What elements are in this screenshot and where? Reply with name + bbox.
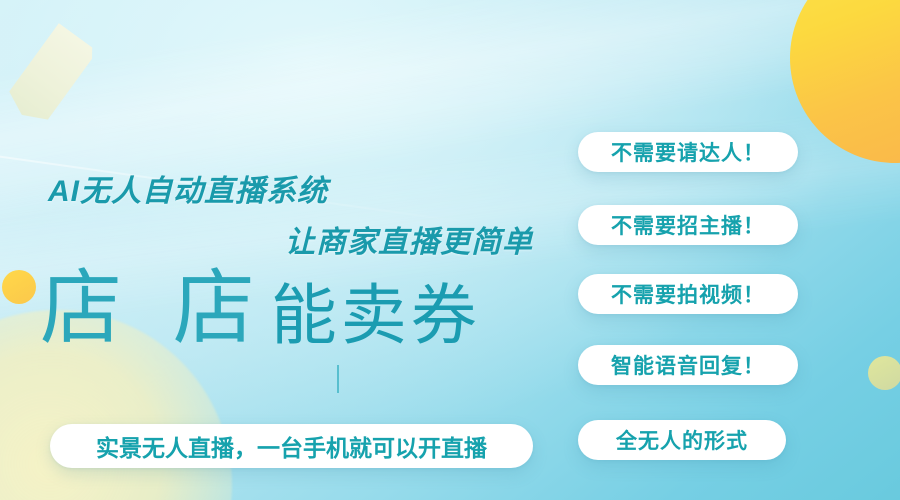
promo-banner: AI无人自动直播系统 让商家直播更简单 店 店 能卖券 不需要请达人！ 不需要招… [0,0,900,500]
ribbon-shape-icon [2,23,97,129]
headline-tick-mark-icon [337,365,339,393]
feature-pill-no-influencer[interactable]: 不需要请达人！ [578,132,798,172]
headline-primary-text: 店 店 [40,268,269,350]
orange-circle-icon [790,0,900,163]
feature-pill-fully-unmanned[interactable]: 全无人的形式 [578,420,786,460]
headline-secondary-text: 能卖券 [271,282,481,350]
yellow-dot-icon [2,270,36,304]
bottom-caption-pill[interactable]: 实景无人直播，一台手机就可以开直播 [50,424,533,468]
feature-pill-no-video[interactable]: 不需要拍视频！ [578,274,798,314]
tagline-secondary: 让商家直播更简单 [285,217,533,261]
page-title: 店 店 能卖券 [40,268,481,350]
feature-pill-smart-voice-reply[interactable]: 智能语音回复！ [578,345,798,385]
tagline-primary: AI无人自动直播系统 [48,166,328,210]
olive-dot-icon [868,356,900,390]
feature-pill-no-host[interactable]: 不需要招主播！ [578,205,798,245]
